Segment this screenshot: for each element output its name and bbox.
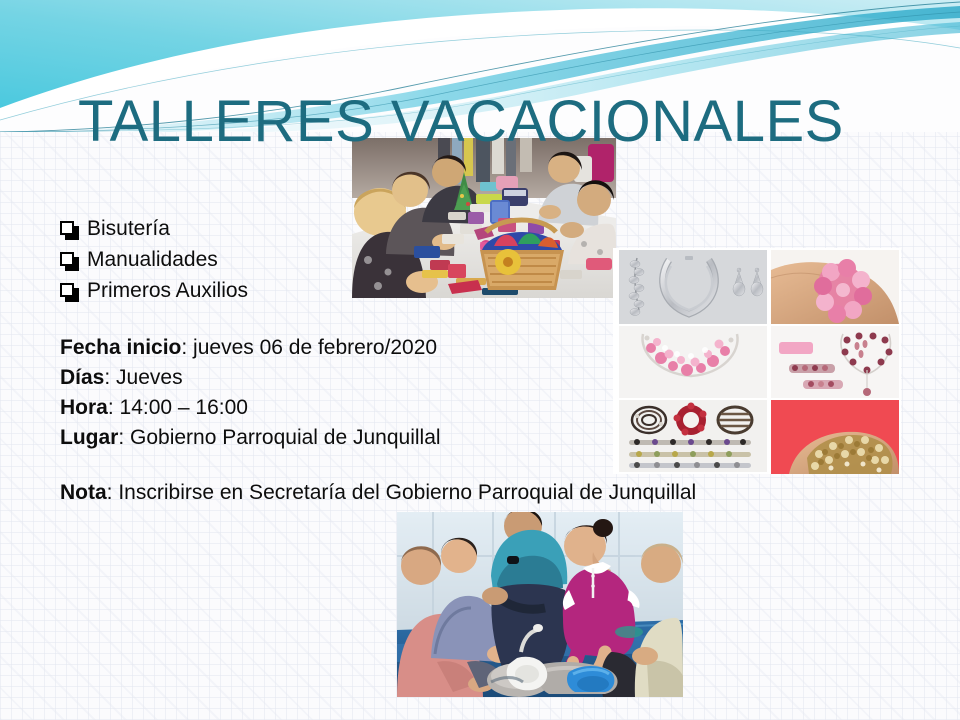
- detail-row-fecha-inicio: Fecha inicio: jueves 06 de febrero/2020: [60, 333, 580, 363]
- event-details: Fecha inicio: jueves 06 de febrero/2020 …: [60, 333, 580, 453]
- list-item: Manualidades: [60, 244, 390, 275]
- hollow-square-bullet-icon: [60, 221, 74, 235]
- hollow-square-bullet-icon: [60, 283, 74, 297]
- note-separator: :: [107, 481, 119, 504]
- list-item: Primeros Auxilios: [60, 275, 390, 306]
- detail-value: 14:00 – 16:00: [120, 396, 248, 419]
- note-row: Nota: Inscribirse en Secretaría del Gobi…: [60, 479, 696, 507]
- detail-label: Días: [60, 366, 104, 389]
- page-title: TALLERES VACACIONALES: [78, 91, 938, 153]
- list-item-label: Bisutería: [87, 213, 170, 244]
- presentation-slide: TALLERES VACACIONALES Bisutería Manualid…: [0, 0, 960, 720]
- note-label: Nota: [60, 481, 107, 504]
- detail-label: Lugar: [60, 426, 118, 449]
- jewelry-collage-photo: [613, 248, 901, 474]
- detail-row-lugar: Lugar: Gobierno Parroquial de Junquillal: [60, 423, 580, 453]
- craft-workshop-photo: [352, 138, 616, 298]
- detail-label: Fecha inicio: [60, 336, 181, 359]
- detail-separator: :: [104, 366, 116, 389]
- first-aid-training-photo: [397, 512, 683, 697]
- list-item-label: Manualidades: [87, 244, 218, 275]
- detail-value: Gobierno Parroquial de Junquillal: [130, 426, 441, 449]
- detail-label: Hora: [60, 396, 108, 419]
- detail-separator: :: [118, 426, 130, 449]
- list-item: Bisutería: [60, 213, 390, 244]
- detail-row-dias: Días: Jueves: [60, 363, 580, 393]
- hollow-square-bullet-icon: [60, 252, 74, 266]
- detail-row-hora: Hora: 14:00 – 16:00: [60, 393, 580, 423]
- workshop-list: Bisutería Manualidades Primeros Auxilios: [60, 213, 390, 306]
- list-item-label: Primeros Auxilios: [87, 275, 248, 306]
- note-value: Inscribirse en Secretaría del Gobierno P…: [118, 481, 696, 504]
- detail-separator: :: [108, 396, 120, 419]
- detail-separator: :: [181, 336, 193, 359]
- detail-value: jueves 06 de febrero/2020: [193, 336, 437, 359]
- detail-value: Jueves: [116, 366, 183, 389]
